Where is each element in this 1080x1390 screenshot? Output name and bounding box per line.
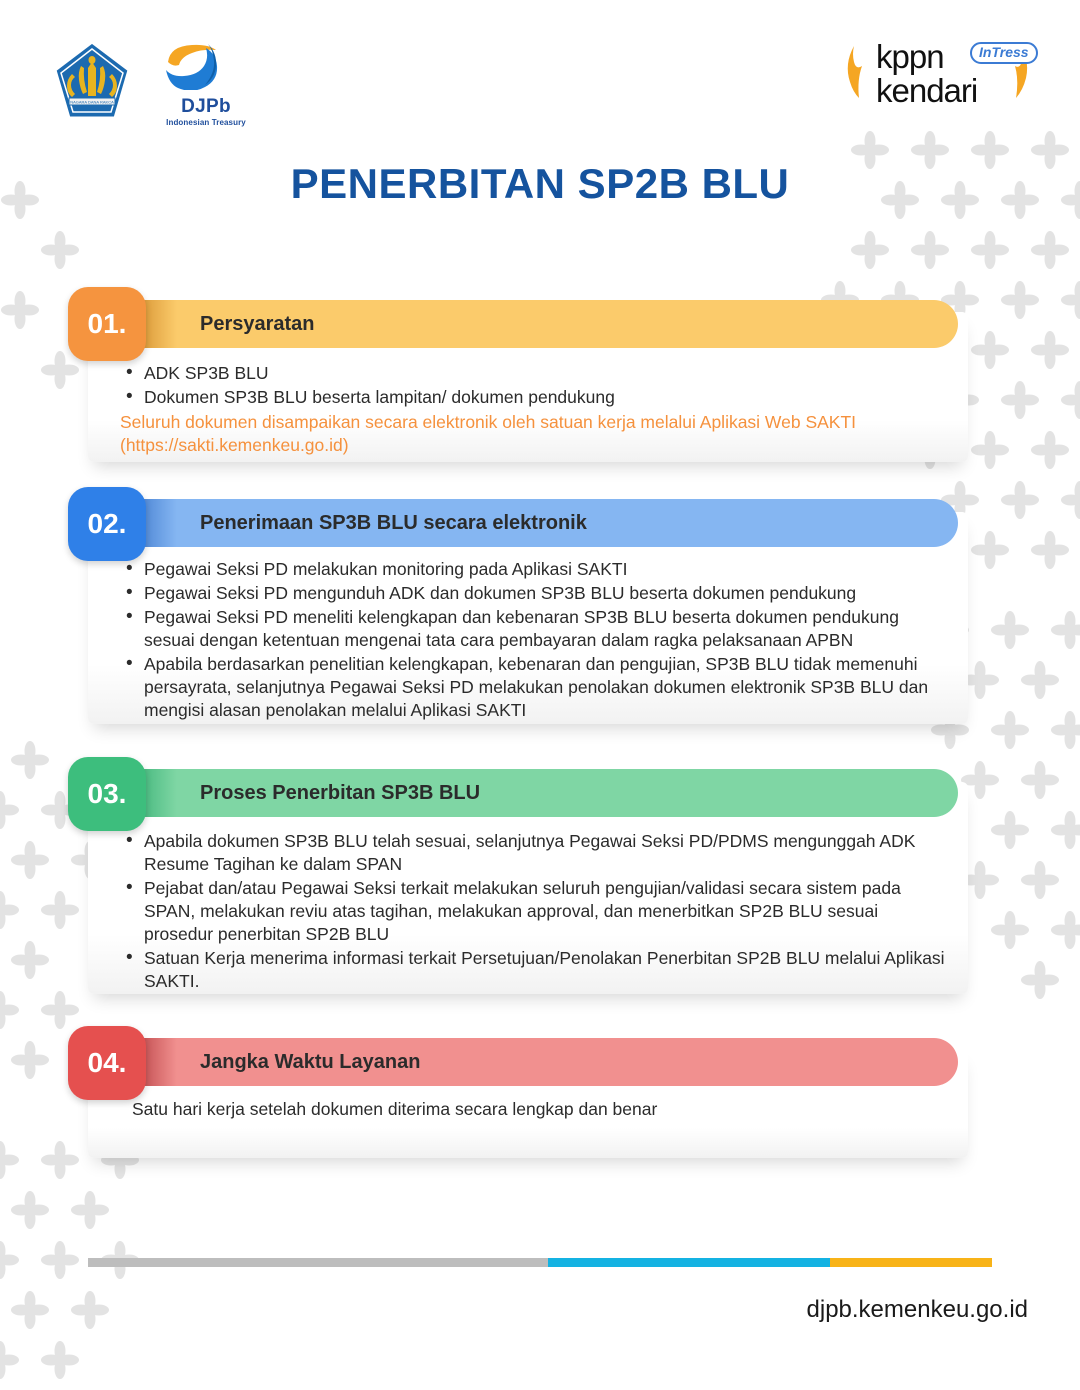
kppn-kendari-logo: kppn kendari InTress: [842, 34, 1032, 114]
kemenkeu-emblem-icon: NAGARA DANA RAKCA: [52, 38, 132, 124]
section-02-number: 02.: [88, 508, 127, 540]
footer-bar-gray: [88, 1258, 548, 1267]
list-item: Pejabat dan/atau Pegawai Seksi terkait m…: [120, 877, 950, 946]
section-04-number-badge: 04.: [68, 1026, 146, 1100]
djpb-wordmark: DJPb: [148, 97, 264, 117]
section-02-heading: Penerimaan SP3B BLU secara elektronik: [200, 512, 587, 535]
list-item: Pegawai Seksi PD meneliti kelengkapan da…: [120, 606, 950, 652]
header: NAGARA DANA RAKCA DJPb Indonesian Treasu…: [0, 0, 1080, 140]
section-01-note: Seluruh dokumen disampaikan secara elekt…: [120, 411, 950, 457]
section-04-number: 04.: [88, 1047, 127, 1079]
list-item: Dokumen SP3B BLU beserta lampitan/ dokum…: [120, 386, 950, 409]
footer-bar-yellow: [830, 1258, 992, 1267]
section-03-number: 03.: [88, 778, 127, 810]
section-03-heading: Proses Penerbitan SP3B BLU: [200, 782, 480, 805]
section-03-body: Apabila dokumen SP3B BLU telah sesuai, s…: [120, 830, 950, 994]
kppn-line-1: kppn: [876, 40, 977, 74]
section-04-body: Satu hari kerja setelah dokumen diterima…: [132, 1098, 962, 1121]
section-01-bar: Persyaratan: [118, 300, 958, 348]
footer-url: djpb.kemenkeu.go.id: [807, 1296, 1028, 1324]
section-03-number-badge: 03.: [68, 757, 146, 831]
section-03-bar: Proses Penerbitan SP3B BLU: [118, 769, 958, 817]
list-item: Pegawai Seksi PD melakukan monitoring pa…: [120, 558, 950, 581]
page-title: PENERBITAN SP2B BLU: [0, 160, 1080, 208]
section-02-bar: Penerimaan SP3B BLU secara elektronik: [118, 499, 958, 547]
kppn-line-2: kendari: [876, 74, 977, 108]
section-01-number-badge: 01.: [68, 287, 146, 361]
footer: djpb.kemenkeu.go.id: [0, 1240, 1080, 1350]
section-02-body: Pegawai Seksi PD melakukan monitoring pa…: [120, 558, 950, 723]
intress-badge: InTress: [970, 42, 1038, 64]
section-02-number-badge: 02.: [68, 487, 146, 561]
djpb-tagline: Indonesian Treasury: [148, 118, 264, 128]
section-04-heading: Jangka Waktu Layanan: [200, 1051, 420, 1074]
footer-bar-cyan: [548, 1258, 830, 1267]
svg-text:NAGARA DANA RAKCA: NAGARA DANA RAKCA: [70, 100, 114, 105]
section-01-number: 01.: [88, 308, 127, 340]
section-01-heading: Persyaratan: [200, 313, 315, 336]
list-item: Apabila dokumen SP3B BLU telah sesuai, s…: [120, 830, 950, 876]
list-item: Satuan Kerja menerima informasi terkait …: [120, 947, 950, 993]
list-item: Apabila berdasarkan penelitian kelengkap…: [120, 653, 950, 722]
list-item: ADK SP3B BLU: [120, 362, 950, 385]
djpb-logo: DJPb Indonesian Treasury: [148, 40, 264, 122]
list-item: Pegawai Seksi PD mengunduh ADK dan dokum…: [120, 582, 950, 605]
section-03-bullet-list: Apabila dokumen SP3B BLU telah sesuai, s…: [120, 830, 950, 993]
kppn-wordmark: kppn kendari: [876, 40, 977, 108]
footer-color-bar: [88, 1258, 992, 1267]
section-01-bullet-list: ADK SP3B BLU Dokumen SP3B BLU beserta la…: [120, 362, 950, 409]
section-04-text: Satu hari kerja setelah dokumen diterima…: [132, 1098, 962, 1121]
djpb-swoosh-icon: [148, 40, 264, 90]
section-04-bar: Jangka Waktu Layanan: [118, 1038, 958, 1086]
section-02-bullet-list: Pegawai Seksi PD melakukan monitoring pa…: [120, 558, 950, 722]
section-01-body: ADK SP3B BLU Dokumen SP3B BLU beserta la…: [120, 362, 950, 457]
